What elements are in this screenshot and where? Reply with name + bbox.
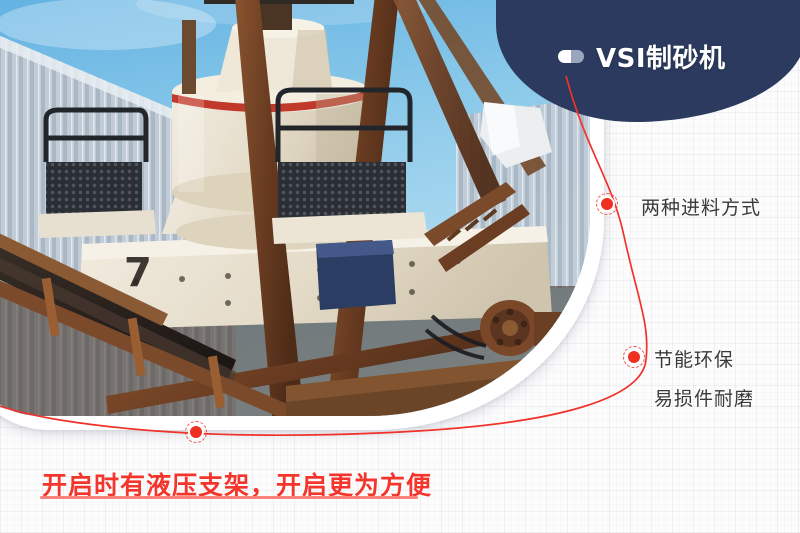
vsi-sand-making-machine-photo: 7 (0, 0, 590, 416)
red-dot-marker-eco[interactable] (623, 346, 645, 368)
caption-underline (40, 496, 418, 499)
page-title: VSI制砂机 (596, 38, 726, 75)
feature-label-wear: 易损件耐磨 (654, 384, 754, 411)
svg-text:7: 7 (124, 250, 152, 296)
feature-label-feeding: 两种进料方式 (641, 193, 761, 220)
feature-label-eco: 节能环保 (654, 345, 734, 372)
photo-illustration: 7 (0, 0, 590, 416)
red-dot-marker-feeding[interactable] (596, 193, 618, 215)
marker-core-icon (601, 198, 613, 210)
marker-core-icon (190, 426, 202, 438)
red-dot-marker-caption[interactable] (185, 421, 207, 443)
marker-core-icon (628, 351, 640, 363)
pill-bullet-icon (558, 50, 584, 63)
promo-banner: 7 (0, 0, 800, 533)
